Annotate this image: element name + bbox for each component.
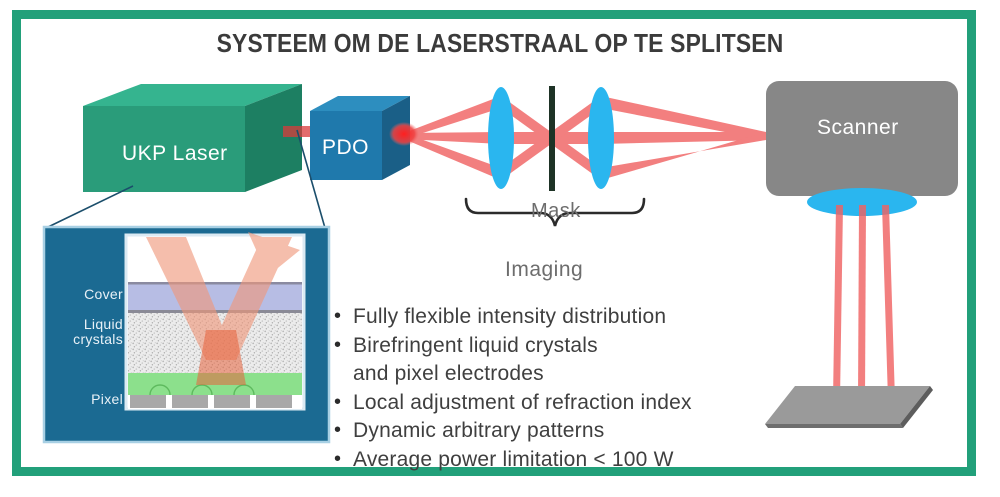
ukp-laser-box: [83, 84, 302, 192]
bullet-item: Local adjustment of refraction index: [334, 389, 734, 418]
pdo-label: PDO: [322, 136, 369, 160]
bullet-item: Birefringent liquid crystals and pixel e…: [334, 332, 734, 389]
imaging-label: Imaging: [505, 258, 583, 282]
bullet-list: Fully flexible intensity distributionBir…: [334, 303, 734, 474]
workpiece-plate: [765, 386, 933, 428]
pdo-exit-spot: [389, 122, 419, 146]
scanner-label: Scanner: [817, 116, 899, 140]
feature-bullet-list: Fully flexible intensity distributionBir…: [334, 303, 734, 474]
lens-1: [488, 87, 514, 189]
inset-liquid-crystals-label: Liquid crystals: [30, 317, 123, 347]
beam-group-pdo-to-lens1: [404, 96, 501, 180]
lens-2: [588, 87, 614, 189]
bullet-item: Fully flexible intensity distribution: [334, 303, 734, 332]
mask-label: Mask: [531, 200, 581, 223]
slide-canvas: SYSTEEM OM DE LASERSTRAAL OP TE SPLITSEN: [0, 0, 1000, 497]
inset-cross-section: [126, 232, 304, 409]
beam-group-scanner-to-workpiece: [833, 205, 895, 400]
inset-cover-label: Cover: [40, 287, 123, 302]
mask-plate: [549, 86, 555, 191]
beam-group-lens2-to-scanner: [601, 96, 766, 180]
bullet-item: Average power limitation < 100 W: [334, 446, 734, 475]
inset-pixel-label: Pixel: [40, 392, 123, 407]
ukp-laser-label: UKP Laser: [122, 142, 228, 166]
bullet-item: Dynamic arbitrary patterns: [334, 417, 734, 446]
